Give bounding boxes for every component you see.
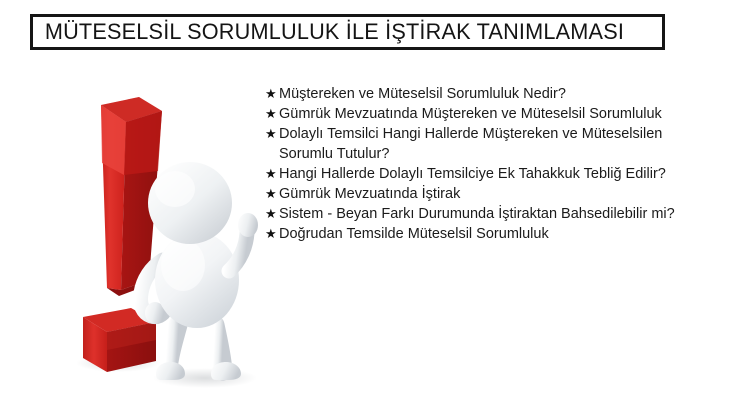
list-item-line: Müştereken ve Müteselsil Sorumluluk Nedi… [279,84,715,104]
list-item: ★ Gümrük Mevzuatında Müştereken ve Mütes… [265,104,715,124]
list-item-line: Dolaylı Temsilci Hangi Hallerde Müşterek… [279,124,715,144]
list-item-line-wrapped: Sorumlu Tutulur? [279,144,715,164]
list-item: ★ Hangi Hallerde Dolaylı Temsilciye Ek T… [265,164,715,184]
list-item-text: Gümrük Mevzuatında Müştereken ve Mütesel… [279,104,715,124]
star-icon: ★ [265,164,279,184]
figure-arm-raised [229,233,247,271]
list-item-text: Sistem - Beyan Farkı Durumunda İştirakta… [279,204,715,224]
list-item-line: Hangi Hallerde Dolaylı Temsilciye Ek Tah… [279,164,715,184]
bullet-list: ★ Müştereken ve Müteselsil Sorumluluk Ne… [265,84,715,244]
star-icon: ★ [265,84,279,104]
list-item-line: Sistem - Beyan Farkı Durumunda İştirakta… [279,204,715,224]
list-item-line: Gümrük Mevzuatında Müştereken ve Mütesel… [279,104,715,124]
star-icon: ★ [265,204,279,224]
list-item-line: Doğrudan Temsilde Müteselsil Sorumluluk [279,224,715,244]
list-item: ★ Doğrudan Temsilde Müteselsil Sorumlulu… [265,224,715,244]
list-item: ★ Dolaylı Temsilci Hangi Hallerde Müşter… [265,124,715,164]
star-icon: ★ [265,224,279,244]
3d-figure [140,162,258,380]
list-item-line: Gümrük Mevzuatında İştirak [279,184,715,204]
list-item-text: Doğrudan Temsilde Müteselsil Sorumluluk [279,224,715,244]
page-title-frame: MÜTESELSİL SORUMLULUK İLE İŞTİRAK TANIML… [30,14,665,50]
list-item-text: Dolaylı Temsilci Hangi Hallerde Müşterek… [279,124,715,164]
list-item: ★ Gümrük Mevzuatında İştirak [265,184,715,204]
page-title: MÜTESELSİL SORUMLULUK İLE İŞTİRAK TANIML… [33,21,624,43]
figure-head-highlight [155,171,195,207]
list-item-text: Müştereken ve Müteselsil Sorumluluk Nedi… [279,84,715,104]
star-icon: ★ [265,124,279,144]
list-item: ★ Müştereken ve Müteselsil Sorumluluk Ne… [265,84,715,104]
star-icon: ★ [265,184,279,204]
figure-torso-highlight [161,239,205,291]
figure-head [148,162,232,244]
list-item: ★ Sistem - Beyan Farkı Durumunda İştirak… [265,204,715,224]
star-icon: ★ [265,104,279,124]
list-item-text: Hangi Hallerde Dolaylı Temsilciye Ek Tah… [279,164,715,184]
exclamation-mark-with-3d-figure-illustration [55,75,275,395]
list-item-text: Gümrük Mevzuatında İştirak [279,184,715,204]
